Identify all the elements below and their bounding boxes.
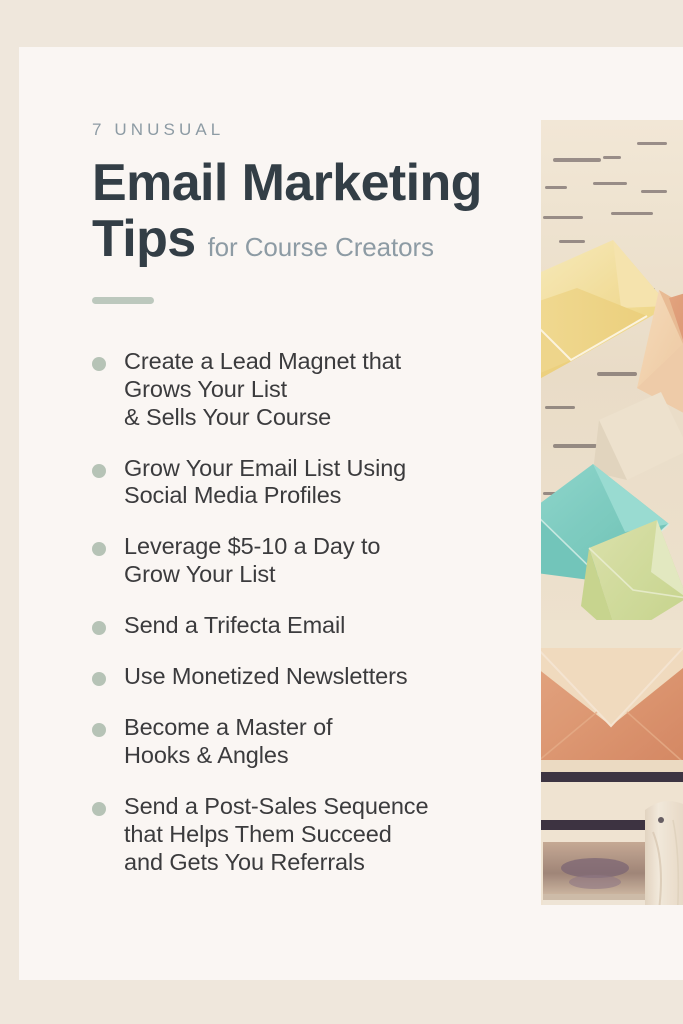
poster-card: 7 UNUSUAL Email Marketing Tips for Cours…	[19, 47, 683, 980]
page-title-line-1: Email Marketing	[92, 156, 522, 212]
text-column: 7 UNUSUAL Email Marketing Tips for Cours…	[92, 120, 522, 877]
page-title-line-2-row: Tips for Course Creators	[92, 212, 522, 268]
list-item: Grow Your Email List Using Social Media …	[92, 455, 512, 511]
envelopes-photo-illustration	[541, 120, 683, 905]
tip-text: Use Monetized Newsletters	[124, 663, 408, 691]
bullet-dot-icon	[92, 542, 106, 556]
list-item: Send a Post-Sales Sequence that Helps Th…	[92, 793, 512, 877]
tip-text: Leverage $5-10 a Day to Grow Your List	[124, 533, 380, 589]
list-item: Create a Lead Magnet that Grows Your Lis…	[92, 348, 512, 432]
tip-text: Become a Master of Hooks & Angles	[124, 714, 332, 770]
tip-text: Create a Lead Magnet that Grows Your Lis…	[124, 348, 401, 432]
list-item: Send a Trifecta Email	[92, 612, 512, 640]
list-item: Use Monetized Newsletters	[92, 663, 512, 691]
tip-text: Send a Post-Sales Sequence that Helps Th…	[124, 793, 428, 877]
bullet-dot-icon	[92, 723, 106, 737]
bullet-dot-icon	[92, 672, 106, 686]
title-block: Email Marketing Tips for Course Creators	[92, 156, 522, 267]
tips-list: Create a Lead Magnet that Grows Your Lis…	[92, 348, 512, 877]
list-item: Leverage $5-10 a Day to Grow Your List	[92, 533, 512, 589]
bullet-dot-icon	[92, 464, 106, 478]
accent-divider	[92, 297, 154, 304]
bullet-dot-icon	[92, 357, 106, 371]
page-subtitle: for Course Creators	[208, 234, 434, 262]
list-item: Become a Master of Hooks & Angles	[92, 714, 512, 770]
page-title-line-2: Tips	[92, 212, 196, 268]
tip-text: Send a Trifecta Email	[124, 612, 345, 640]
bullet-dot-icon	[92, 802, 106, 816]
eyebrow-label: 7 UNUSUAL	[92, 120, 522, 140]
bullet-dot-icon	[92, 621, 106, 635]
poster-canvas: 7 UNUSUAL Email Marketing Tips for Cours…	[0, 0, 683, 1024]
envelopes-photo	[541, 120, 683, 905]
tip-text: Grow Your Email List Using Social Media …	[124, 455, 406, 511]
